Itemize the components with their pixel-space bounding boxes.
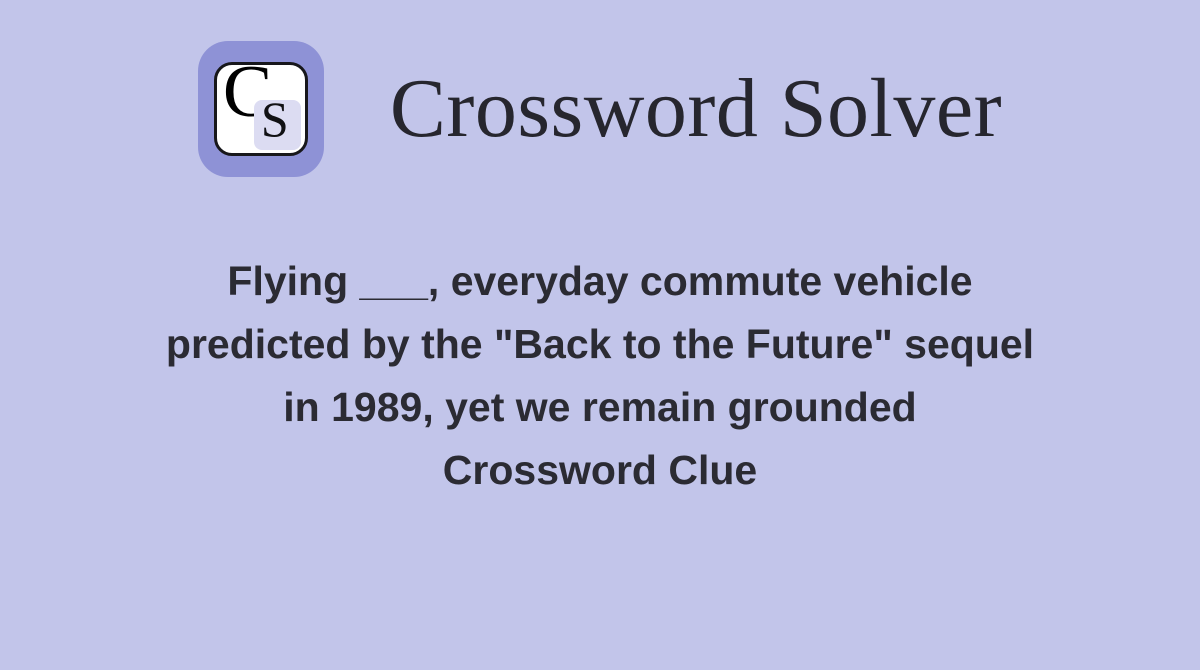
clue-heading-line: Flying ___, everyday commute vehicle bbox=[70, 250, 1130, 313]
clue-heading: Flying ___, everyday commute vehicle pre… bbox=[70, 250, 1130, 502]
clue-heading-line: Crossword Clue bbox=[70, 439, 1130, 502]
clue-heading-line: in 1989, yet we remain grounded bbox=[70, 376, 1130, 439]
site-title[interactable]: Crossword Solver bbox=[390, 67, 1002, 151]
logo-inner-square: C S bbox=[214, 62, 308, 156]
page-root: C S Crossword Solver Flying ___, everyda… bbox=[0, 0, 1200, 670]
site-logo[interactable]: C S bbox=[198, 41, 324, 177]
logo-letter-s-icon: S bbox=[261, 94, 289, 144]
logo-letter-s-tile: S bbox=[254, 100, 301, 150]
site-header: C S Crossword Solver bbox=[0, 34, 1200, 184]
clue-heading-line: predicted by the "Back to the Future" se… bbox=[70, 313, 1130, 376]
